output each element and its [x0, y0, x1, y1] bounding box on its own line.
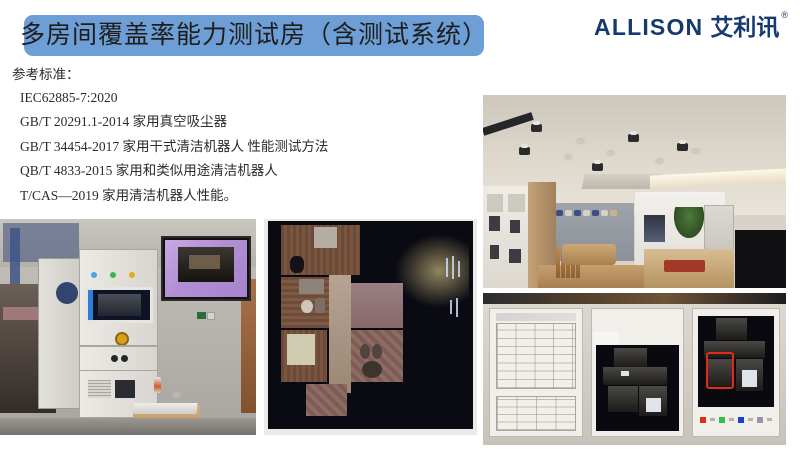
room-hallway: [329, 275, 351, 393]
legend-label-gray: [767, 418, 772, 421]
legend-swatch-gray: [757, 417, 763, 423]
ceiling-dome-4: [565, 155, 572, 159]
living-table: [301, 300, 312, 313]
bedroom-furniture-1: [314, 227, 337, 248]
shelf-object-1: [489, 216, 501, 230]
indicator-light-yellow: [129, 272, 135, 278]
knob-left[interactable]: [111, 355, 118, 362]
wall-socket-green: [197, 312, 206, 319]
legend-swatch-red: [700, 417, 706, 423]
report-analysis-panel: [692, 308, 780, 437]
legend-swatch-blue: [738, 417, 744, 423]
monitor-screen: [165, 240, 247, 297]
report-map-panel: [591, 308, 685, 437]
map-region-3: [608, 386, 638, 412]
report-results-table: [496, 396, 577, 432]
map-region-2: [603, 367, 668, 384]
plan-light-streak-2: [452, 256, 454, 279]
pendant-5: [592, 210, 599, 216]
slide-root: 多房间覆盖率能力测试房（含测试系统） ALLISON 艾利讯 ® 参考标准： I…: [0, 0, 800, 450]
plan-house-layout: [278, 225, 405, 416]
kitchen-pendant-lights: [556, 207, 635, 219]
annotated-highlight: [742, 370, 757, 386]
shelf-object-2: [510, 220, 521, 232]
registered-trademark-icon: ®: [781, 10, 788, 20]
coverage-map-annotated: [698, 316, 774, 408]
pendant-6: [601, 210, 608, 216]
plan-light-streak-3: [458, 261, 460, 278]
plan-light-streak-4: [450, 300, 452, 315]
page-title-banner: 多房间覆盖率能力测试房（含测试系统）: [24, 15, 484, 56]
plan-light-streak-5: [456, 298, 458, 317]
cabinet-vent-grille: [88, 380, 111, 398]
cabinet-seam-2: [80, 370, 157, 372]
shelf-object-4: [509, 249, 521, 263]
hanging-plant: [674, 207, 704, 238]
ceiling-dome-5: [656, 159, 663, 163]
knob-right[interactable]: [121, 355, 128, 362]
lab-keyboard[interactable]: [133, 403, 198, 414]
reference-standards-block: 参考标准： IEC62885-7:2020 GB/T 20291.1-2014 …: [12, 68, 452, 213]
wall-artwork: [644, 215, 665, 242]
cabinet-seam-1: [80, 345, 157, 347]
test-platform-box: [644, 249, 735, 288]
cabinet-indicator-lights: [91, 272, 135, 278]
bedroom-bottom-bed: [287, 334, 315, 365]
test-room-interior-photo: [483, 95, 786, 288]
ceiling-camera-5: [592, 163, 603, 171]
plan-display-screen: [268, 221, 472, 428]
test-control-cabinet-photo: [0, 219, 256, 435]
plan-light-streak-1: [446, 258, 448, 277]
legend-label-red: [710, 418, 715, 421]
shelf-cell-2: [508, 194, 524, 212]
cabinet-pc-unit: [115, 380, 135, 398]
emergency-stop-button[interactable]: [115, 332, 129, 346]
coverage-map-raw: [596, 345, 679, 431]
reference-standards-heading: 参考标准：: [12, 68, 452, 82]
legend-label-blue: [748, 418, 753, 421]
report-board-top-strip: [483, 293, 786, 304]
standard-item-0: IEC62885-7:2020: [20, 91, 452, 105]
pendant-1: [556, 210, 563, 216]
living-chair: [315, 298, 325, 313]
page-title: 多房间覆盖率能力测试房（含测试系统）: [20, 23, 488, 48]
pendant-2: [565, 210, 572, 216]
ceiling-camera-1: [531, 124, 542, 132]
cabinet-label: [87, 259, 88, 263]
lab-fan-icon: [56, 282, 78, 304]
coverage-legend: [700, 416, 772, 424]
ceiling-light-panel: [582, 174, 660, 189]
standard-item-4: T/CAS—2019 家用清洁机器人性能。: [20, 189, 452, 203]
standard-item-2: GB/T 34454-2017 家用干式清洁机器人 性能测试方法: [20, 140, 452, 154]
dining-chair-1: [556, 247, 560, 278]
dining-table: [562, 244, 617, 265]
lab-instrument-cabinet: [79, 249, 158, 417]
lab-wall-monitor: [161, 236, 251, 301]
room-display-shelf: [483, 186, 531, 288]
indicator-light-green: [110, 272, 116, 278]
map-region-1: [614, 348, 647, 367]
indicator-light-blue: [91, 272, 97, 278]
cabinet-viewing-window: [85, 287, 153, 324]
logo-text-english: ALLISON: [594, 16, 703, 39]
legend-label-green: [729, 418, 734, 421]
standard-item-1: GB/T 20291.1-2014 家用真空吸尘器: [20, 115, 452, 129]
lab-floor: [0, 418, 256, 435]
shelf-cell-1: [487, 194, 503, 212]
lab-bottle: [154, 377, 161, 393]
shelf-object-3: [490, 245, 500, 259]
room-right-upper: [351, 283, 403, 329]
wall-television: [735, 230, 787, 288]
annotated-region-1: [716, 318, 746, 340]
living-sofa: [299, 279, 324, 294]
map-highlight-2: [621, 371, 629, 376]
uncovered-area-outline: [706, 352, 734, 389]
ceiling-camera-2: [519, 147, 530, 155]
window-interior: [98, 294, 141, 316]
right-lower-chair-1: [360, 344, 370, 359]
test-report-board-photo: [483, 293, 786, 445]
map-highlight-1: [646, 398, 661, 412]
lab-mouse[interactable]: [172, 392, 181, 398]
report-parameter-table: [496, 323, 577, 389]
legend-swatch-green: [719, 417, 725, 423]
bedroom-furniture-2: [290, 256, 304, 273]
pendant-3: [574, 210, 581, 216]
pendant-4: [583, 210, 590, 216]
wall-socket-white: [207, 312, 215, 320]
ceiling-camera-4: [677, 143, 688, 151]
standard-item-3: QB/T 4833-2015 家用和类似用途清洁机器人: [20, 164, 452, 178]
room-bathroom: [306, 384, 347, 416]
cabinet-knobs[interactable]: [111, 355, 128, 362]
overhead-floor-plan-photo: [264, 219, 477, 435]
ceiling-camera-3: [628, 134, 639, 142]
brand-logo: ALLISON 艾利讯 ®: [594, 16, 788, 39]
report-data-panel: [489, 308, 583, 437]
pendant-7: [610, 210, 617, 216]
logo-text-chinese: 艾利讯: [710, 16, 779, 39]
window-blue-strip: [88, 290, 94, 321]
report-table-title: [496, 313, 577, 321]
monitor-camera-feed: [178, 247, 233, 282]
